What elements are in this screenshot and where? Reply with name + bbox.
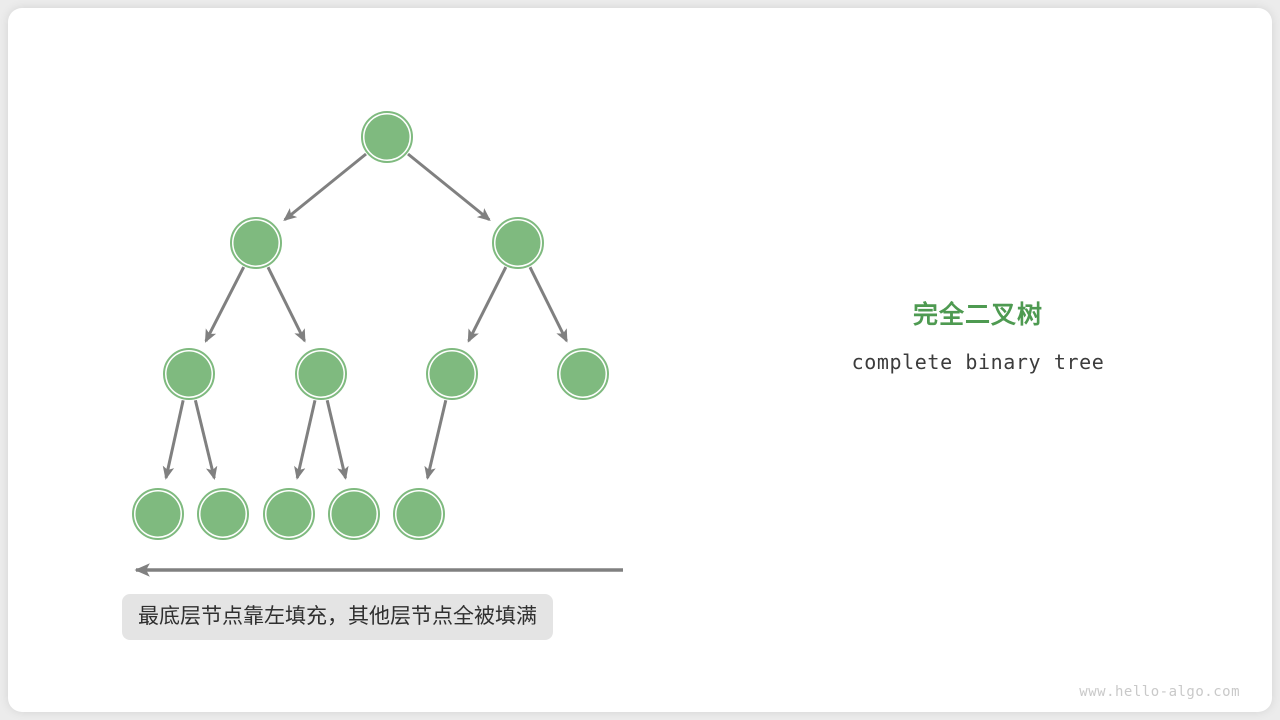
node-fill [167,352,212,397]
tree-node [198,489,248,539]
illustration-card: 完全二叉树 complete binary tree 最底层节点靠左填充，其他层… [8,8,1272,712]
tree-edge [285,154,366,220]
tree-edge [166,400,183,478]
tree-edge [297,400,315,478]
tree-node [362,112,412,162]
tree-edge [327,400,345,478]
page-title: 完全二叉树 [768,298,1188,332]
tree-edge [195,400,214,478]
tree-node [264,489,314,539]
watermark: www.hello-algo.com [1079,684,1240,700]
title-block: 完全二叉树 complete binary tree [768,298,1188,374]
tree-edge [469,267,506,341]
tree-node [133,489,183,539]
node-fill [201,492,246,537]
node-fill [234,221,279,266]
node-fill [397,492,442,537]
tree-edges [166,154,567,478]
tree-edge [206,267,244,341]
tree-node [427,349,477,399]
page-root: 完全二叉树 complete binary tree 最底层节点靠左填充，其他层… [0,0,1280,720]
tree-edge [530,267,567,341]
tree-node [296,349,346,399]
node-fill [561,352,606,397]
node-fill [267,492,312,537]
tree-node [231,218,281,268]
tree-node [164,349,214,399]
node-fill [496,221,541,266]
tree-node [558,349,608,399]
node-fill [365,115,410,160]
node-fill [136,492,181,537]
tree-node [493,218,543,268]
tree-edge [268,267,305,341]
tree-node [394,489,444,539]
node-fill [430,352,475,397]
node-fill [299,352,344,397]
tree-nodes [133,112,608,539]
caption-badge: 最底层节点靠左填充，其他层节点全被填满 [122,594,553,640]
node-fill [332,492,377,537]
tree-edge [427,400,445,478]
page-subtitle: complete binary tree [768,350,1188,374]
tree-edge [408,154,489,220]
tree-node [329,489,379,539]
